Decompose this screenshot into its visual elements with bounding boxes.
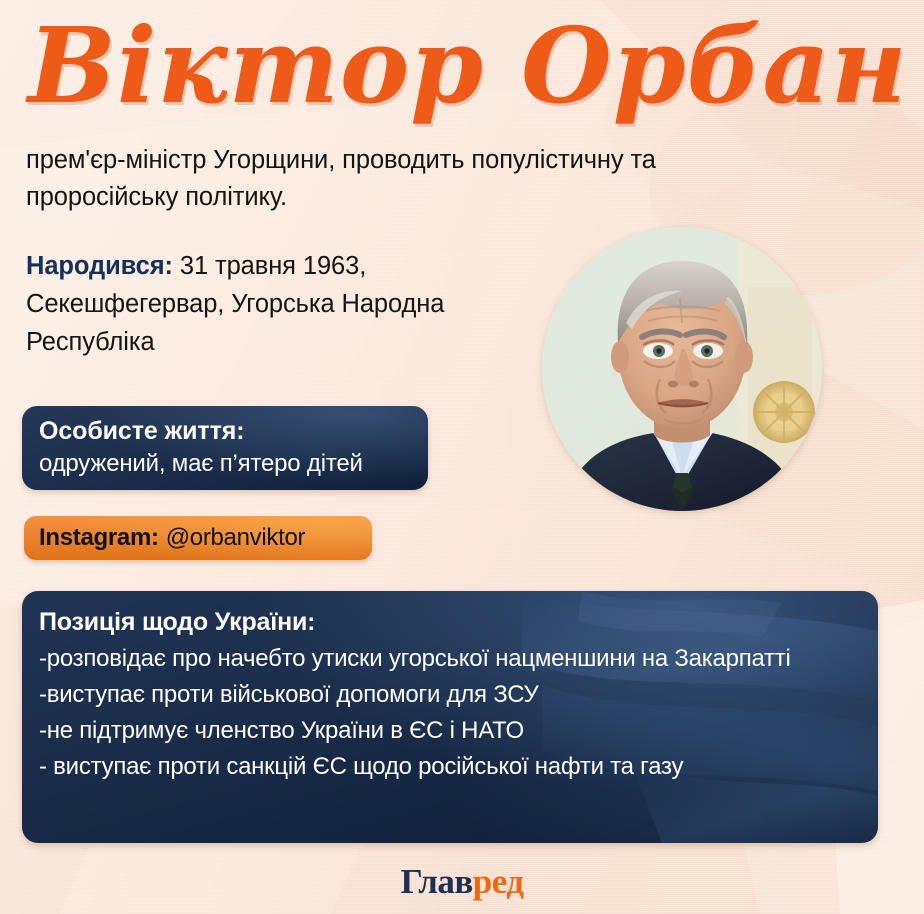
instagram-handle[interactable]: @orbanviktor [166,524,306,552]
brand-logo-part-1: Глав [400,862,472,901]
portrait-photo [542,227,822,511]
page-title: Віктор Орбан [28,2,908,132]
infographic-card: Віктор Орбан прем'єр-міністр Угорщини, п… [0,0,924,914]
brand-logo[interactable]: Главред [0,862,924,902]
position-bullet: -виступає проти військової допомоги для … [39,677,860,713]
personal-life-body: одружений, має п’ятеро дітей [39,447,412,480]
position-bullet: -не підтримує членство України в ЄС і НА… [39,713,860,749]
position-bullet: -розповідає про начебто утиски угорської… [39,641,860,677]
personal-life-card: Особисте життя: одружений, має п’ятеро д… [22,406,428,490]
position-bullet: - виступає проти санкцій ЄС щодо російсь… [39,749,860,785]
born-block: Народився: 31 травня 1963, Секешфегервар… [26,247,546,361]
instagram-label: Instagram: [39,524,159,552]
instagram-badge[interactable]: Instagram: @orbanviktor [24,516,372,560]
portrait-illustration [542,227,822,511]
personal-life-heading: Особисте життя: [39,415,412,447]
position-on-ukraine-card: Позиція щодо України: -розповідає про на… [22,591,878,843]
born-label: Народився: [26,252,173,280]
position-content: Позиція щодо України: -розповідає про на… [39,603,860,785]
position-heading: Позиція щодо України: [39,603,860,641]
subtitle-description: прем'єр-міністр Угорщини, проводить попу… [26,142,742,216]
brand-logo-part-2: ред [473,862,524,901]
